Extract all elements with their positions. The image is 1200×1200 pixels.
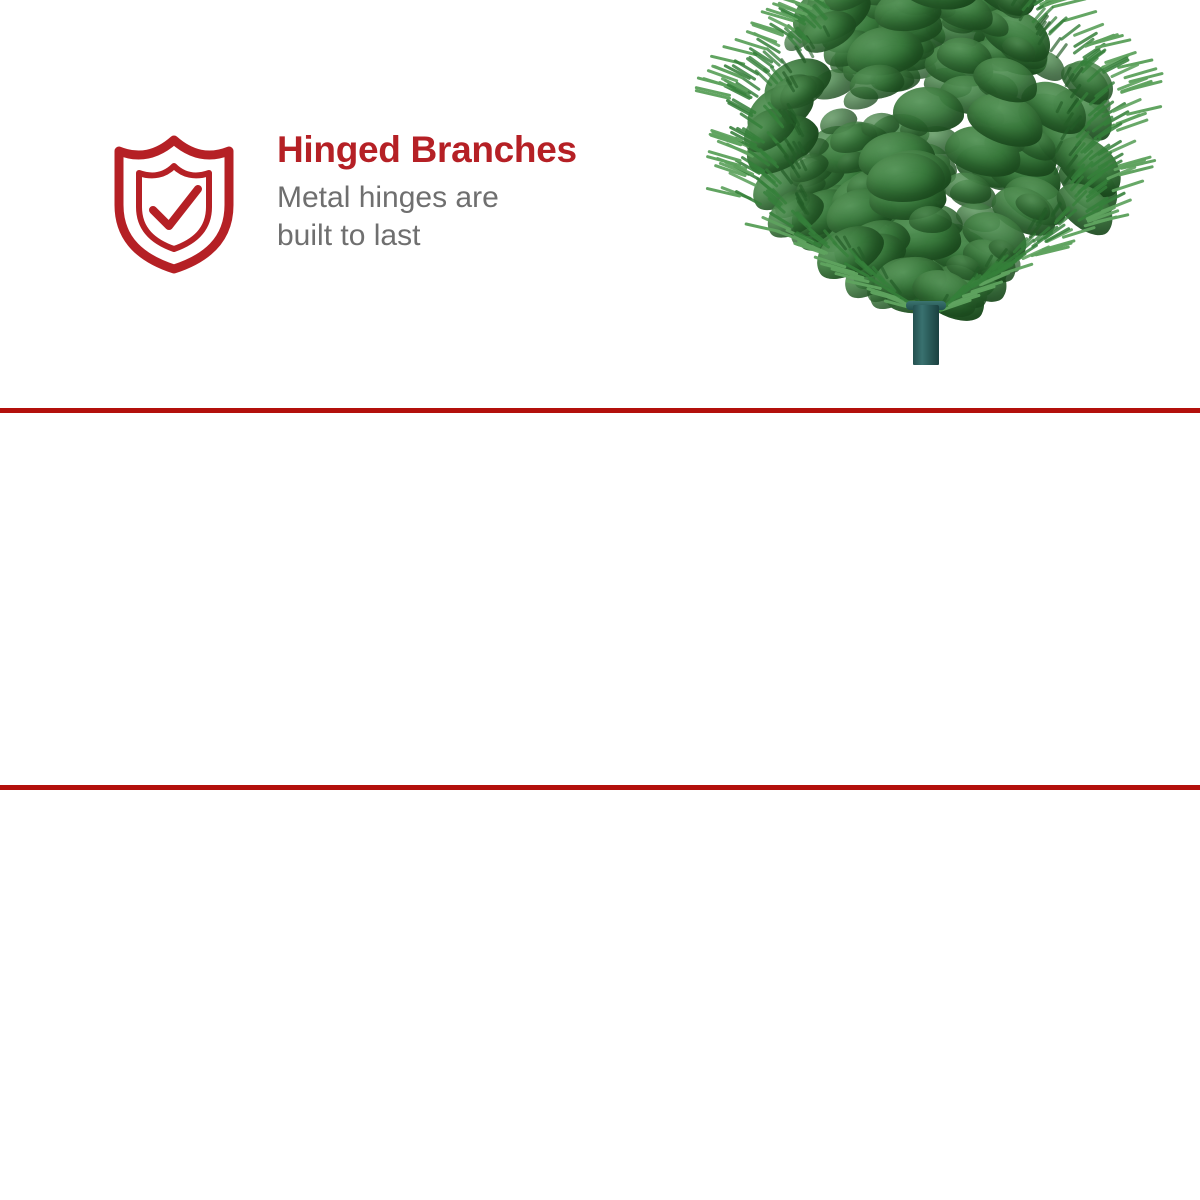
feature-panel-pvc: PVC Tips Flame-retardant and easy to flu… (0, 413, 1200, 785)
feature-panel-hinged: Hinged Branches Metal hinges are built t… (0, 0, 1200, 408)
panel-desc-hinged-line2: built to last (277, 217, 577, 255)
divider-rule-1 (0, 408, 1200, 413)
infographic-sheet: Hinged Branches Metal hinges are built t… (0, 0, 1200, 1200)
branch-foliage (660, 0, 1200, 320)
shield-check-icon (113, 131, 235, 273)
feature-panel-base: Sturdy Base A reliable metal stand for y… (0, 790, 1200, 1200)
hinged-branch-photo (660, 0, 1200, 408)
divider-rule-2 (0, 785, 1200, 790)
hinge-pole (913, 305, 939, 365)
panel-desc-hinged-line1: Metal hinges are (277, 179, 577, 217)
panel-title-hinged: Hinged Branches (277, 131, 577, 170)
hinged-text-block: Hinged Branches Metal hinges are built t… (277, 131, 577, 256)
